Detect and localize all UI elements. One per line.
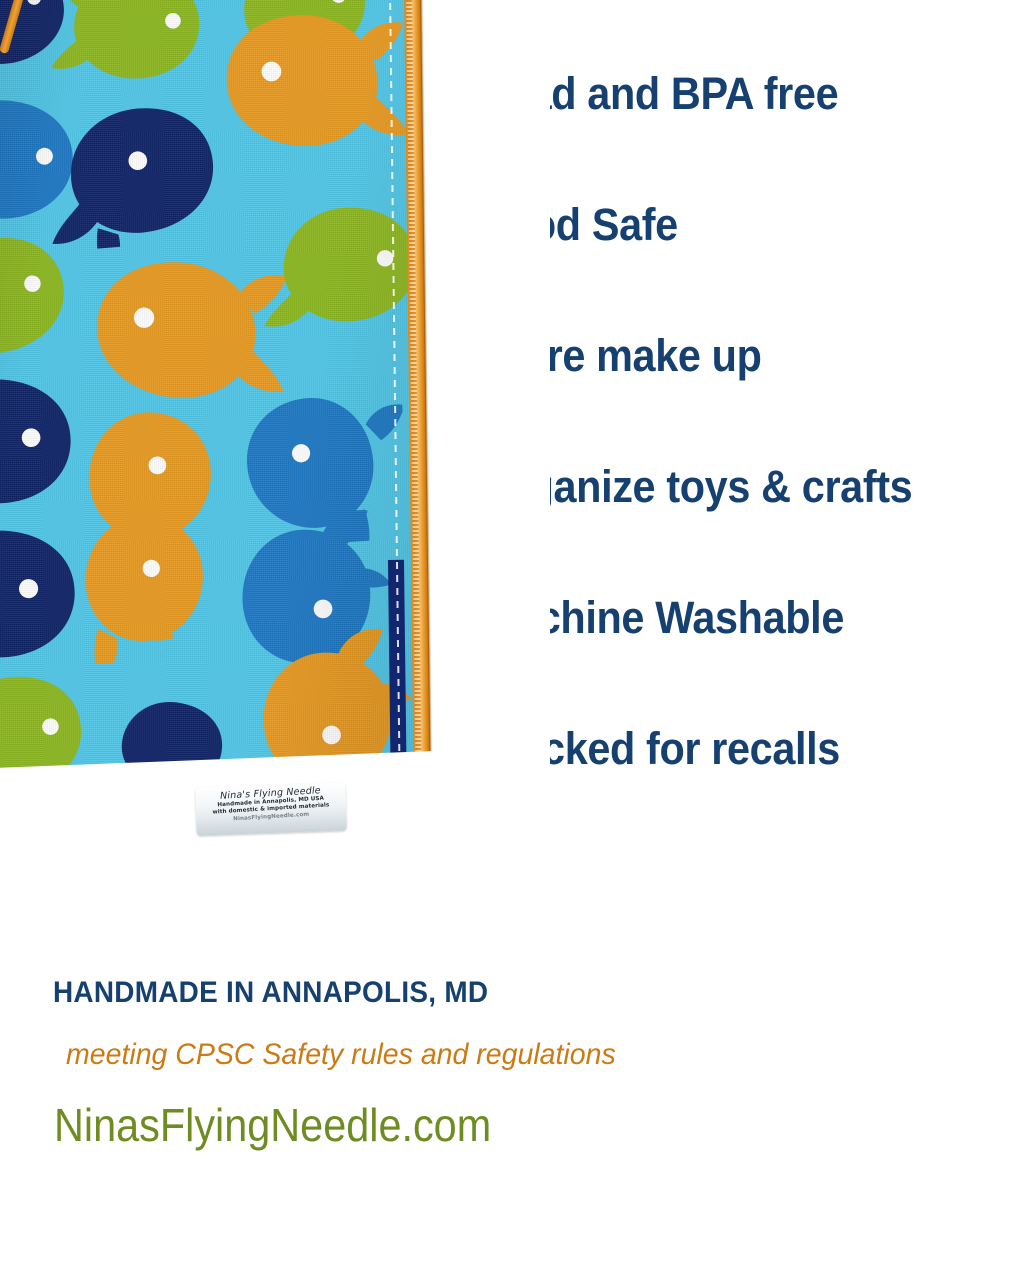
whale-icon: [188, 0, 410, 163]
product-photo: Nina's Flying Needle Handmade in Annapol…: [0, 0, 452, 845]
feature-item: Organize toys & crafts: [481, 461, 959, 592]
feature-item: Store make up: [481, 330, 959, 461]
cpsc-compliance-text: meeting CPSC Safety rules and regulation…: [66, 1038, 616, 1072]
handmade-location-text: HANDMADE IN ANNAPOLIS, MD: [53, 976, 488, 1010]
whale-print-fabric-panel: [0, 0, 415, 803]
feature-item: Machine Washable: [481, 592, 959, 723]
brand-care-label: Nina's Flying Needle Handmade in Annapol…: [195, 782, 347, 835]
feature-item: Food Safe: [481, 199, 959, 330]
feature-item: Tracked for recalls: [481, 723, 959, 854]
feature-item: Lead and BPA free: [481, 68, 959, 199]
feature-list: Lead and BPA free Food Safe Store make u…: [481, 68, 1001, 854]
website-url-text[interactable]: NinasFlyingNeedle.com: [54, 1098, 491, 1152]
